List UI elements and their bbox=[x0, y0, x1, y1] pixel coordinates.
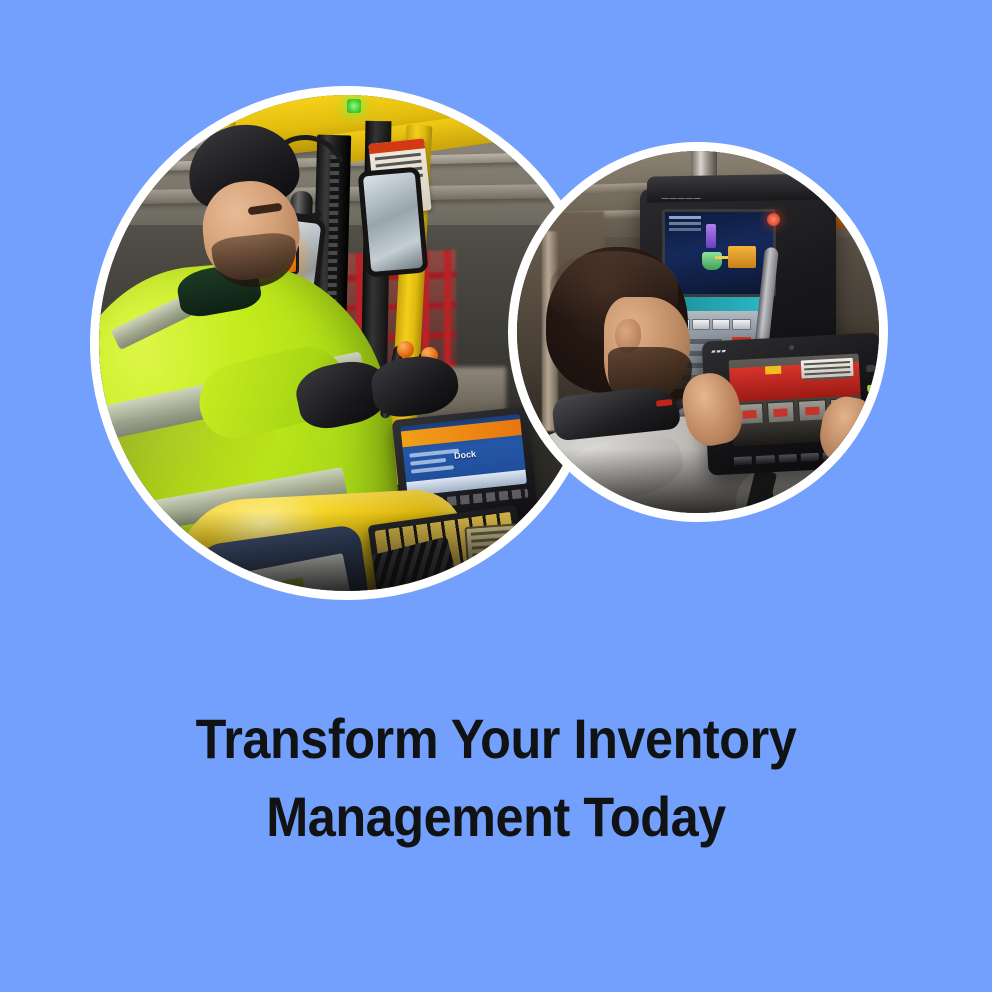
lever-knob-orange bbox=[397, 341, 414, 358]
gaiter-red-tag bbox=[656, 399, 673, 407]
panel-button bbox=[692, 319, 710, 330]
sign-text-line bbox=[804, 361, 850, 365]
media-cluster: Dock bbox=[0, 0, 992, 660]
cnc-readout-text bbox=[669, 216, 702, 219]
sign-text-line bbox=[804, 366, 850, 370]
cnc-toolpath-violet bbox=[706, 224, 716, 248]
cnc-brand-label: ————— bbox=[662, 195, 702, 202]
technician-scene: ————— bbox=[517, 151, 879, 513]
terminal-header-bar bbox=[400, 419, 521, 447]
headline-block: Transform Your Inventory Management Toda… bbox=[0, 700, 992, 856]
headline-line-1: Transform Your Inventory bbox=[50, 700, 943, 778]
panel-button bbox=[712, 319, 730, 330]
tablet-camera-icon bbox=[789, 345, 794, 350]
terminal-text-row bbox=[409, 448, 460, 457]
tablet-view-yellow-marker bbox=[766, 366, 782, 375]
machine-status-light-red-icon bbox=[767, 213, 780, 226]
tablet-button[interactable] bbox=[734, 456, 753, 465]
tablet-button[interactable] bbox=[801, 453, 820, 462]
tablet-led bbox=[866, 365, 875, 372]
cnc-toolpath-orange bbox=[728, 246, 756, 268]
tablet-led-active bbox=[867, 384, 876, 391]
page-title: Transform Your Inventory Management Toda… bbox=[50, 700, 943, 856]
forklift-mirror bbox=[357, 166, 428, 277]
terminal-screen-label: Dock bbox=[453, 449, 476, 461]
placard-text-line bbox=[375, 153, 421, 161]
tablet-view-sign bbox=[801, 358, 854, 379]
terminal-screen: Dock bbox=[400, 414, 527, 496]
tablet-button[interactable] bbox=[779, 454, 798, 463]
status-led-green-icon bbox=[347, 99, 361, 113]
headline-line-2: Management Today bbox=[50, 778, 943, 856]
sign-text-line bbox=[805, 371, 851, 375]
placard-text-line bbox=[375, 160, 421, 168]
terminal-text-row bbox=[410, 465, 453, 473]
tablet-button[interactable] bbox=[756, 455, 775, 464]
promo-card: Dock bbox=[0, 0, 992, 992]
photo-circle-technician-tablet: ————— bbox=[508, 142, 888, 522]
tablet-brand-logo: ▰▰▰ bbox=[711, 347, 727, 355]
scene-bottom-shadow bbox=[99, 511, 595, 591]
terminal-text-row bbox=[410, 458, 446, 466]
cnc-toolpath-green bbox=[702, 252, 722, 270]
panel-button bbox=[732, 319, 750, 330]
